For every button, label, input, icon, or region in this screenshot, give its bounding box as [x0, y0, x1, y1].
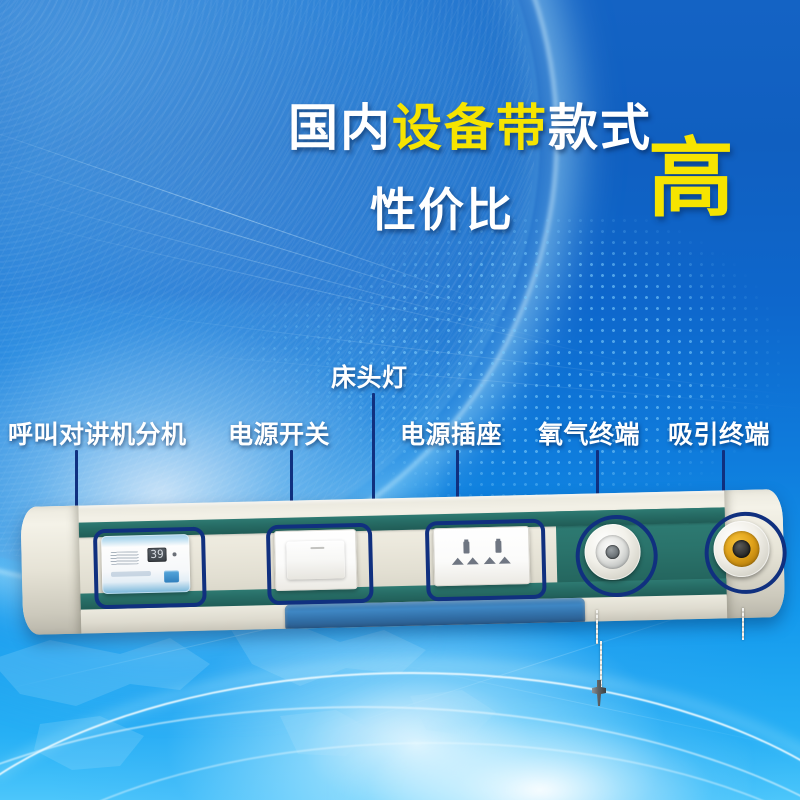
suction-pull-cord — [742, 608, 744, 640]
cord-weight-handle-icon[interactable] — [592, 680, 606, 706]
highlight-box-switch — [266, 523, 374, 605]
headline-line-2: 性价比 高 — [370, 168, 790, 248]
callout-label-bedlamp: 床头灯 — [331, 358, 408, 394]
panel-endcap-left — [20, 506, 81, 635]
bedhead-panel: 39 — [20, 489, 785, 655]
callout-label-switch: 电源开关 — [228, 415, 330, 451]
headline-highlight: 设备带 — [392, 100, 548, 156]
callout-label-socket: 电源插座 — [400, 415, 502, 451]
callout-label-oxygen: 氧气终端 — [538, 415, 640, 451]
promo-image: 国内设备带款式 性价比 高 呼叫对讲机分机电源开关床头灯电源插座氧气终端吸引终端… — [0, 0, 800, 800]
callout-label-intercom: 呼叫对讲机分机 — [8, 415, 187, 451]
callout-label-suction: 吸引终端 — [668, 415, 770, 451]
highlight-box-intercom — [93, 527, 207, 610]
headline-part-2: 款式 — [548, 100, 652, 156]
headline-subtext: 性价比 — [370, 174, 514, 240]
highlight-box-socket — [425, 519, 547, 602]
oxygen-pull-cord — [596, 610, 598, 644]
headline-emphasis-gao: 高 — [648, 136, 734, 222]
bedhead-panel-photo: 39 — [22, 498, 784, 646]
headline-part-1: 国内 — [288, 100, 392, 156]
